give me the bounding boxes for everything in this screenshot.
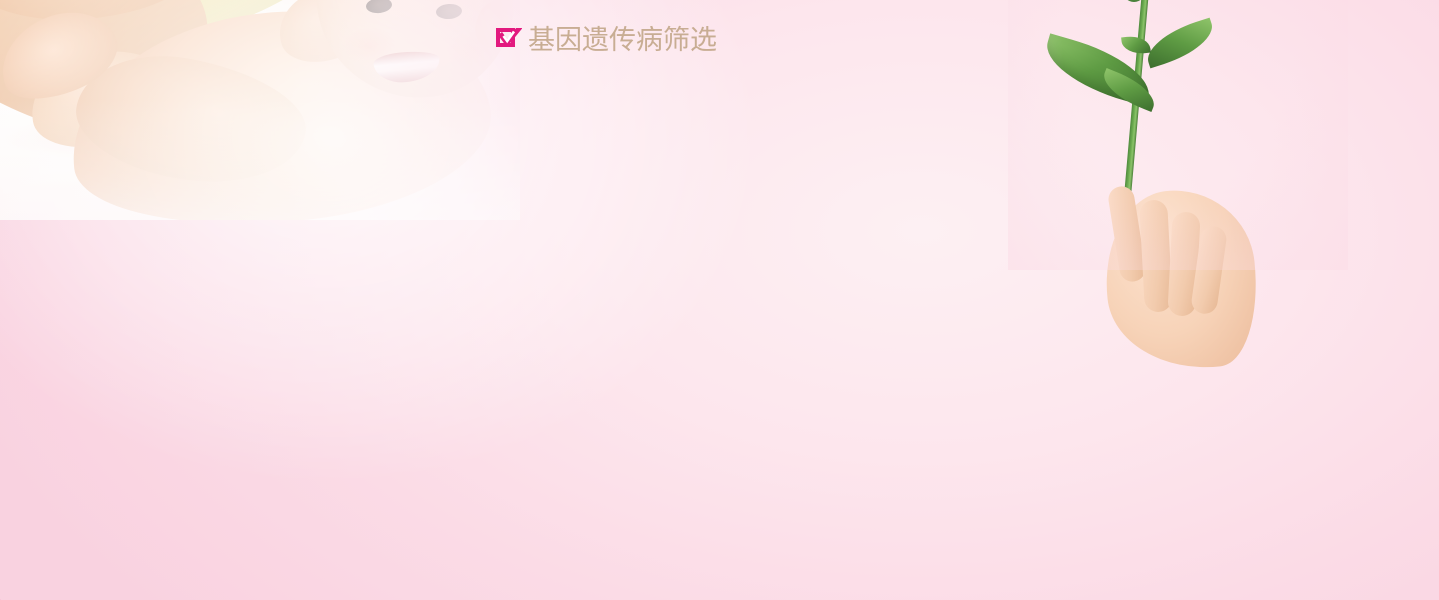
list-item-label: 基因遗传病筛选 [528,18,717,57]
list-item-label: 包生男孩 [728,0,836,5]
checklist-row: 代孕妈妈 包生男孩 [496,0,1196,18]
list-item[interactable]: 包生男孩 [696,0,892,5]
list-item[interactable]: 代孕妈妈 [496,0,696,5]
banner-content: 男孩 生男孩 性别逃 [496,0,1196,70]
pink-slab-background: 男孩 生男孩 性别逃 [0,0,1439,600]
service-checklist: 试管婴儿 供卵供精 [496,0,1196,70]
list-item[interactable]: 基因遗传病筛选 [496,18,696,57]
checkbox-checked-icon [496,26,519,49]
photo-bottom-fade [0,100,520,220]
list-item-label: 协助办理出生证 [924,0,1113,5]
checklist-row: 基因遗传病筛选 [496,18,1196,70]
mother-and-baby-photo [0,0,520,220]
promo-banner: 男孩 生男孩 性别逃 [0,0,1439,600]
list-item-label: 代孕妈妈 [528,0,636,5]
list-item[interactable]: 协助办理出生证 [892,0,1113,5]
